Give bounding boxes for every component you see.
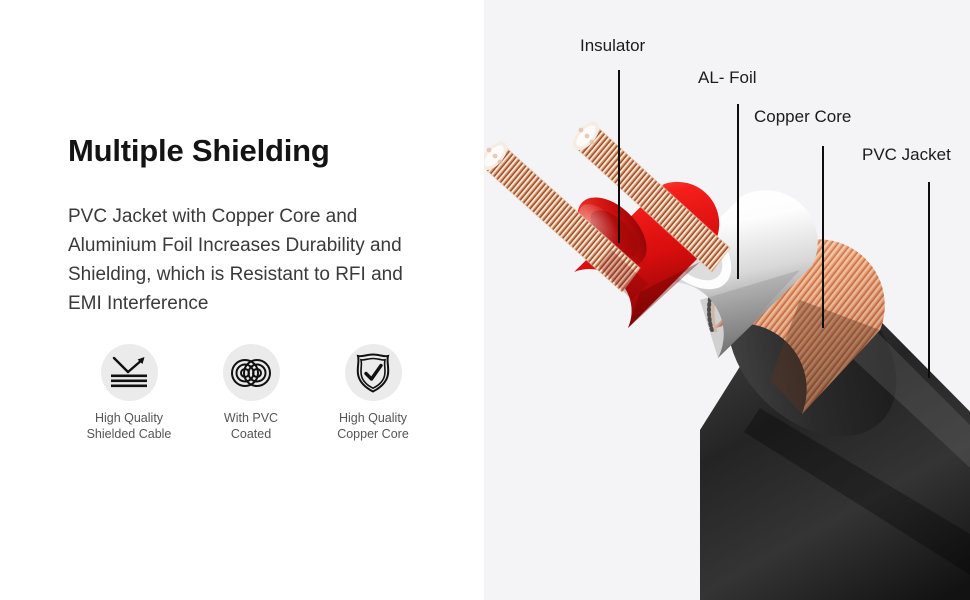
feature-shielded-cable: High Quality Shielded Cable — [68, 344, 190, 442]
pvc-coated-rings-icon — [231, 357, 271, 389]
feature-badge-row: High Quality Shielded Cable — [68, 344, 434, 444]
leader-line-pvc-jacket — [928, 182, 930, 378]
feature-icon-background — [223, 344, 280, 401]
description-text: PVC Jacket with Copper Core and Aluminiu… — [68, 202, 428, 318]
feature-label: High Quality Copper Core — [312, 410, 434, 442]
feature-pvc-coated: With PVC Coated — [190, 344, 312, 442]
callout-label-pvc-jacket: PVC Jacket — [862, 145, 951, 165]
right-illustration-panel: Insulator AL- Foil Copper Core PVC Jacke… — [484, 0, 970, 600]
leader-line-copper-core — [822, 146, 824, 328]
page-title: Multiple Shielding — [68, 133, 330, 169]
feature-icon-background — [101, 344, 158, 401]
callout-label-copper-core: Copper Core — [754, 107, 851, 127]
left-text-panel: Multiple Shielding PVC Jacket with Coppe… — [0, 0, 484, 600]
leader-line-al-foil — [737, 104, 739, 279]
shield-check-icon — [355, 353, 391, 393]
cable-cutaway-illustration — [484, 0, 970, 600]
infographic-root: Multiple Shielding PVC Jacket with Coppe… — [0, 0, 970, 600]
feature-label: With PVC Coated — [190, 410, 312, 442]
feature-label: High Quality Shielded Cable — [68, 410, 190, 442]
feature-copper-core: High Quality Copper Core — [312, 344, 434, 442]
shielded-reflection-icon — [109, 355, 149, 391]
feature-icon-background — [345, 344, 402, 401]
callout-label-insulator: Insulator — [580, 36, 645, 56]
leader-line-insulator — [618, 70, 620, 243]
callout-label-al-foil: AL- Foil — [698, 68, 757, 88]
